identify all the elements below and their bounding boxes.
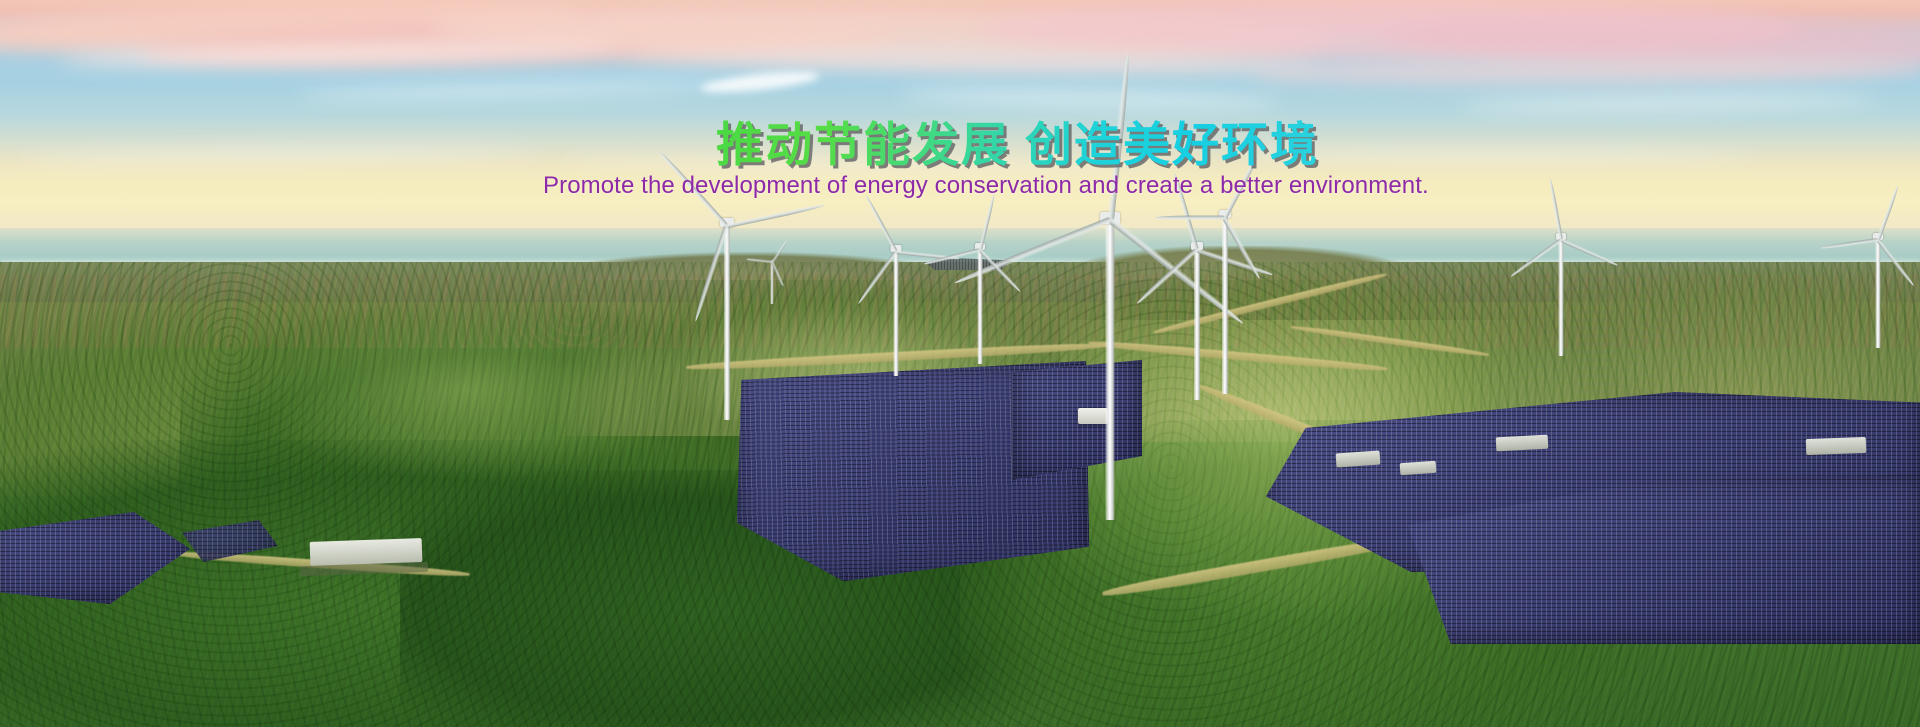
service-building xyxy=(1806,437,1867,455)
page-title: 推动节能发展 创造美好环境 xyxy=(716,120,1319,171)
hero-banner: 推动节能发展 创造美好环境 Promote the development of… xyxy=(0,0,1920,727)
service-building xyxy=(1078,408,1108,424)
page-subtitle: Promote the development of energy conser… xyxy=(543,172,1429,200)
service-building xyxy=(1496,435,1549,452)
service-building xyxy=(1400,461,1437,475)
